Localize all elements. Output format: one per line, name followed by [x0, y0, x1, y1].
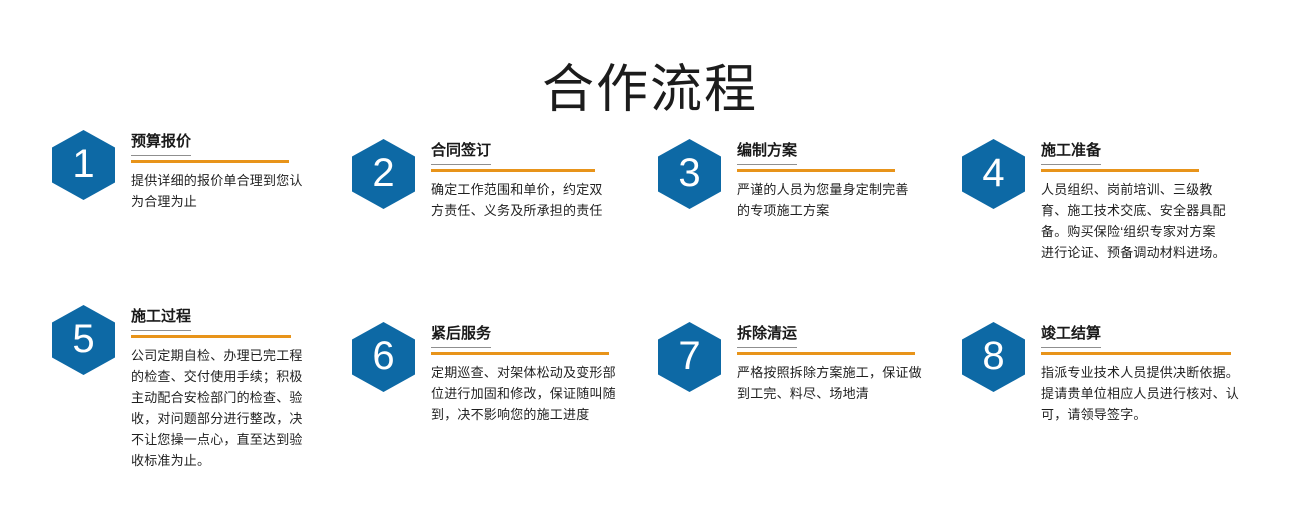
step-text-block-8: 竣工结算 指派专业技术人员提供决断依据。提请贵单位相应人员进行核对、认可，请领导…: [1041, 322, 1262, 425]
step-text-block-4: 施工准备 人员组织、岗前培训、三级教育、施工技术交底、安全器具配备。购买保险‘组…: [1041, 139, 1262, 263]
step-title-3: 编制方案: [737, 141, 797, 165]
step-accent-rule-6: [431, 352, 609, 355]
step-number-badge-1: 1: [52, 130, 115, 200]
step-number-badge-2: 2: [352, 139, 415, 209]
step-text-block-2: 合同签订 确定工作范围和单价，约定双方责任、义务及所承担的责任: [431, 139, 642, 221]
step-description-8: 指派专业技术人员提供决断依据。提请贵单位相应人员进行核对、认可，请领导签字。: [1041, 362, 1247, 425]
step-text-block-5: 施工过程 公司定期自检、办理已完工程的检查、交付使用手续；积极主动配合安检部门的…: [131, 305, 342, 471]
step-number-5: 5: [72, 319, 94, 359]
process-step-3[interactable]: 3 编制方案 严谨的人员为您量身定制完善的专项施工方案: [658, 139, 948, 221]
process-step-2[interactable]: 2 合同签订 确定工作范围和单价，约定双方责任、义务及所承担的责任: [352, 139, 642, 221]
step-text-block-7: 拆除清运 严格按照拆除方案施工，保证做到工完、料尽、场地清: [737, 322, 948, 404]
step-text-block-1: 预算报价 提供详细的报价单合理到您认为合理为止: [131, 130, 342, 212]
page-title: 合作流程: [0, 59, 1300, 121]
process-steps-grid: 1 预算报价 提供详细的报价单合理到您认为合理为止 2 合同签订 确定工作范围和…: [0, 130, 1300, 505]
step-number-badge-3: 3: [658, 139, 721, 209]
step-title-2: 合同签订: [431, 141, 491, 165]
step-number-3: 3: [678, 153, 700, 193]
step-description-2: 确定工作范围和单价，约定双方责任、义务及所承担的责任: [431, 179, 609, 221]
step-description-3: 严谨的人员为您量身定制完善的专项施工方案: [737, 179, 913, 221]
process-step-1[interactable]: 1 预算报价 提供详细的报价单合理到您认为合理为止: [52, 130, 342, 212]
step-number-8: 8: [982, 336, 1004, 376]
step-description-7: 严格按照拆除方案施工，保证做到工完、料尽、场地清: [737, 362, 931, 404]
step-description-4: 人员组织、岗前培训、三级教育、施工技术交底、安全器具配备。购买保险‘组织专家对方…: [1041, 179, 1227, 263]
process-row-bottom: 5 施工过程 公司定期自检、办理已完工程的检查、交付使用手续；积极主动配合安检部…: [0, 305, 1300, 505]
step-description-5: 公司定期自检、办理已完工程的检查、交付使用手续；积极主动配合安检部门的检查、验收…: [131, 345, 311, 471]
process-step-4[interactable]: 4 施工准备 人员组织、岗前培训、三级教育、施工技术交底、安全器具配备。购买保险…: [962, 139, 1262, 263]
step-number-badge-7: 7: [658, 322, 721, 392]
step-description-6: 定期巡查、对架体松动及变形部位进行加固和修改，保证随叫随到，决不影响您的施工进度: [431, 362, 627, 425]
process-step-8[interactable]: 8 竣工结算 指派专业技术人员提供决断依据。提请贵单位相应人员进行核对、认可，请…: [962, 322, 1262, 425]
step-accent-rule-7: [737, 352, 915, 355]
step-accent-rule-4: [1041, 169, 1199, 172]
process-step-5[interactable]: 5 施工过程 公司定期自检、办理已完工程的检查、交付使用手续；积极主动配合安检部…: [52, 305, 342, 471]
process-step-6[interactable]: 6 紧后服务 定期巡查、对架体松动及变形部位进行加固和修改，保证随叫随到，决不影…: [352, 322, 642, 425]
process-step-7[interactable]: 7 拆除清运 严格按照拆除方案施工，保证做到工完、料尽、场地清: [658, 322, 948, 404]
step-accent-rule-8: [1041, 352, 1231, 355]
step-accent-rule-1: [131, 160, 289, 163]
step-title-4: 施工准备: [1041, 141, 1101, 165]
step-number-4: 4: [982, 153, 1004, 193]
step-accent-rule-3: [737, 169, 895, 172]
step-title-6: 紧后服务: [431, 324, 491, 348]
step-text-block-6: 紧后服务 定期巡查、对架体松动及变形部位进行加固和修改，保证随叫随到，决不影响您…: [431, 322, 642, 425]
step-description-1: 提供详细的报价单合理到您认为合理为止: [131, 170, 306, 212]
step-number-6: 6: [372, 336, 394, 376]
step-number-7: 7: [678, 336, 700, 376]
step-title-1: 预算报价: [131, 132, 191, 156]
step-number-badge-6: 6: [352, 322, 415, 392]
step-accent-rule-5: [131, 335, 291, 338]
step-number-badge-4: 4: [962, 139, 1025, 209]
step-title-7: 拆除清运: [737, 324, 797, 348]
step-number-badge-8: 8: [962, 322, 1025, 392]
step-text-block-3: 编制方案 严谨的人员为您量身定制完善的专项施工方案: [737, 139, 948, 221]
process-row-top: 1 预算报价 提供详细的报价单合理到您认为合理为止 2 合同签订 确定工作范围和…: [0, 130, 1300, 305]
step-number-badge-5: 5: [52, 305, 115, 375]
step-number-2: 2: [372, 153, 394, 193]
step-number-1: 1: [72, 144, 94, 184]
step-title-8: 竣工结算: [1041, 324, 1101, 348]
step-title-5: 施工过程: [131, 307, 191, 331]
step-accent-rule-2: [431, 169, 595, 172]
